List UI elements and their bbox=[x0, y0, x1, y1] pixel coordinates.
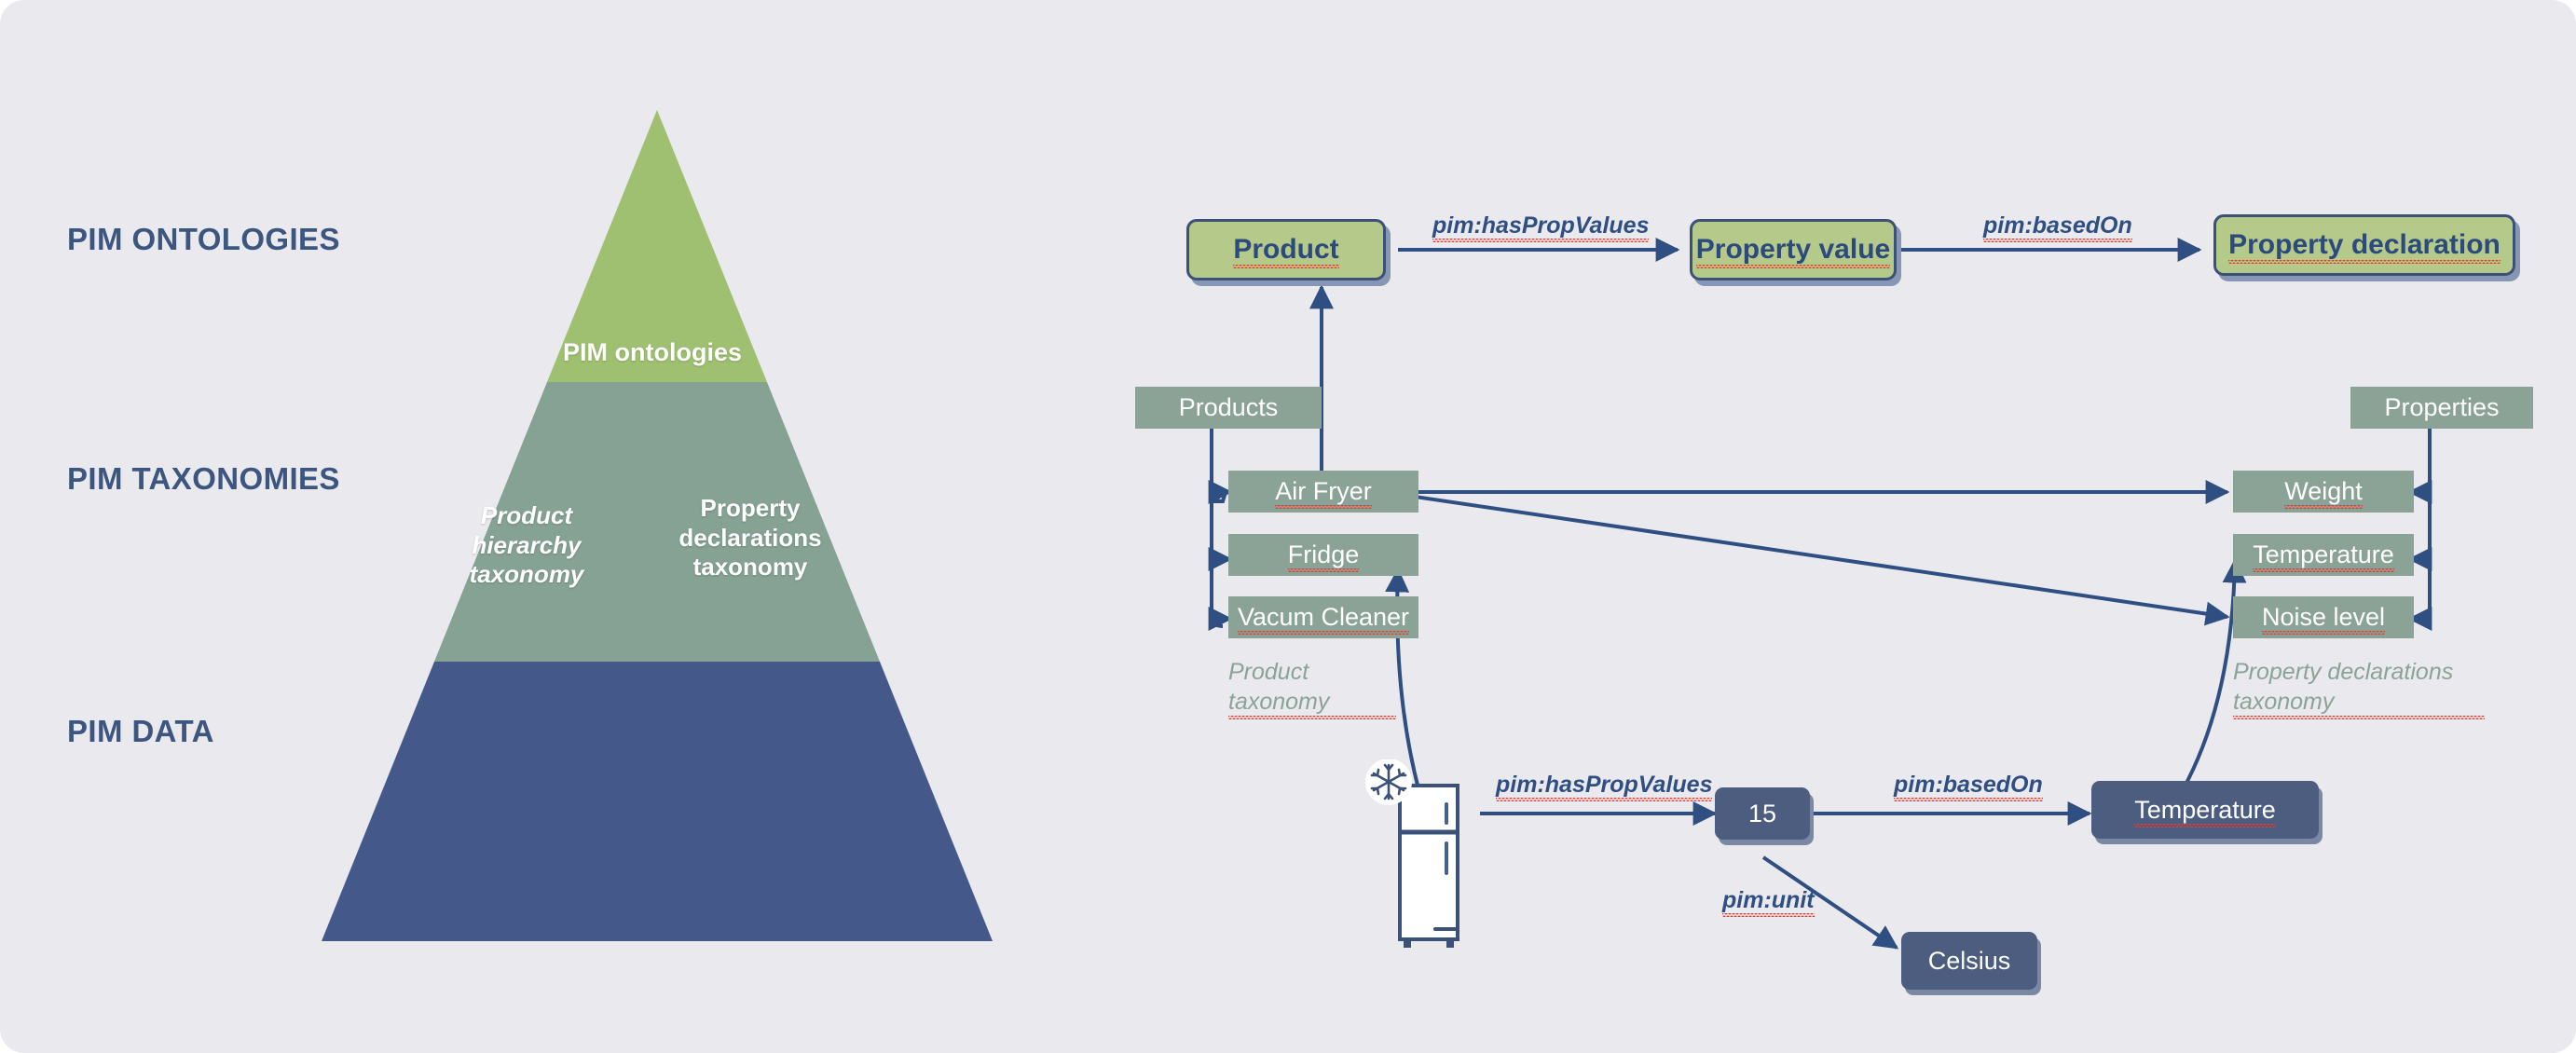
tax-box-noise-level-label: Noise level bbox=[2262, 603, 2385, 632]
tax-box-properties[interactable]: Properties bbox=[2350, 387, 2533, 429]
data-box-value-15-label: 15 bbox=[1748, 800, 1776, 828]
edge-label-basedon-data: pim:basedOn bbox=[1894, 772, 2043, 799]
tax-box-weight-label: Weight bbox=[2284, 477, 2363, 506]
edge-temperature-instance-to-temperature-class bbox=[2176, 561, 2235, 801]
tax-box-vacum-cleaner-label: Vacum Cleaner bbox=[1238, 603, 1409, 632]
fridge-icon bbox=[1361, 759, 1482, 955]
edge-products-to-vacumcleaner bbox=[1212, 611, 1230, 619]
data-box-celsius[interactable]: Celsius bbox=[1901, 932, 2037, 990]
edge-label-unit-data: pim:unit bbox=[1722, 887, 1815, 914]
data-box-value-15[interactable]: 15 bbox=[1715, 787, 1810, 840]
edge-label-haspropvalues-ontology: pim:hasPropValues bbox=[1432, 212, 1649, 239]
edge-label-basedon-ontology: pim:basedOn bbox=[1983, 212, 2132, 239]
edge-label-basedon-ontology-text: pim:basedOn bbox=[1983, 212, 2132, 239]
data-box-celsius-label: Celsius bbox=[1928, 947, 2011, 976]
tax-box-air-fryer-label: Air Fryer bbox=[1275, 477, 1372, 506]
edge-products-to-fridge bbox=[1212, 552, 1230, 559]
tax-box-properties-label: Properties bbox=[2384, 393, 2499, 422]
pim-graph: Product Property value Property declarat… bbox=[0, 0, 2576, 1053]
tax-box-temperature-label: Temperature bbox=[2253, 540, 2394, 569]
onto-box-product[interactable]: Product bbox=[1186, 219, 1386, 280]
tax-box-temperature[interactable]: Temperature bbox=[2233, 534, 2414, 576]
edge-label-unit-data-text: pim:unit bbox=[1722, 887, 1815, 914]
onto-box-property-declaration-label: Property declaration bbox=[2228, 229, 2501, 261]
tax-box-weight[interactable]: Weight bbox=[2233, 471, 2414, 513]
tax-box-vacum-cleaner[interactable]: Vacum Cleaner bbox=[1228, 596, 1418, 638]
data-box-temperature-label: Temperature bbox=[2134, 796, 2276, 825]
edge-label-basedon-data-text: pim:basedOn bbox=[1894, 772, 2043, 799]
onto-box-property-value[interactable]: Property value bbox=[1690, 219, 1897, 280]
tax-box-air-fryer[interactable]: Air Fryer bbox=[1228, 471, 1418, 513]
tax-box-noise-level[interactable]: Noise level bbox=[2233, 596, 2414, 638]
tax-box-fridge-label: Fridge bbox=[1288, 540, 1360, 569]
caption-product-taxonomy-text: Product taxonomy bbox=[1228, 657, 1396, 717]
onto-box-property-declaration[interactable]: Property declaration bbox=[2213, 214, 2515, 276]
tax-box-fridge[interactable]: Fridge bbox=[1228, 534, 1418, 576]
tax-box-products[interactable]: Products bbox=[1135, 387, 1322, 429]
caption-property-declarations-taxonomy: Property declarations taxonomy bbox=[2233, 657, 2485, 717]
graph-connectors bbox=[0, 0, 2576, 1053]
edge-label-haspropvalues-ontology-text: pim:hasPropValues bbox=[1432, 212, 1649, 239]
caption-product-taxonomy: Product taxonomy bbox=[1228, 657, 1396, 717]
edge-label-haspropvalues-data: pim:hasPropValues bbox=[1496, 772, 1712, 799]
tree-products-spine-full bbox=[1212, 429, 1223, 626]
caption-property-declarations-taxonomy-text: Property declarations taxonomy bbox=[2233, 657, 2485, 717]
onto-box-product-label: Product bbox=[1233, 234, 1338, 266]
edge-products-to-airfryer bbox=[1212, 485, 1230, 492]
diagram-canvas: PIM ONTOLOGIES PIM TAXONOMIES PIM DATA P… bbox=[0, 0, 2576, 1053]
data-box-temperature[interactable]: Temperature bbox=[2091, 781, 2319, 839]
edge-airfryer-to-noiselevel bbox=[1396, 494, 2227, 617]
onto-box-property-value-label: Property value bbox=[1696, 234, 1890, 266]
tax-box-products-label: Products bbox=[1179, 393, 1279, 422]
edge-label-haspropvalues-data-text: pim:hasPropValues bbox=[1496, 772, 1712, 799]
